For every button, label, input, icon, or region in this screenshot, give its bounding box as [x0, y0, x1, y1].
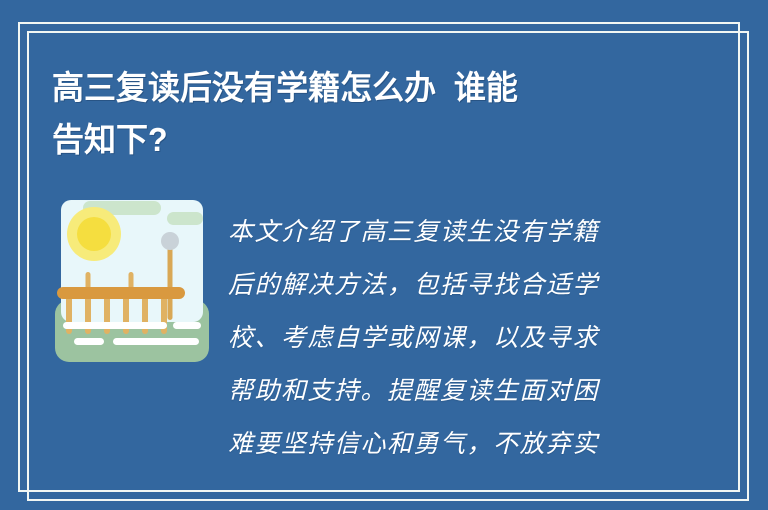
title-line-2: 告知下?: [52, 114, 673, 166]
title-line-1: 高三复读后没有学籍怎么办 谁能: [52, 62, 673, 114]
lamp-head-icon: [161, 232, 179, 250]
article-summary: 本文介绍了高三复读生没有学籍 后的解决方法，包括寻找合适学 校、考虑自学或网课，…: [228, 205, 653, 470]
wave-line: [63, 322, 167, 329]
lamp-pole: [168, 244, 173, 320]
summary-line: 帮助和支持。提醒复读生面对困: [228, 364, 653, 417]
pier-plank: [57, 287, 185, 299]
summary-line: 校、考虑自学或网课，以及寻求: [228, 311, 653, 364]
page-title: 高三复读后没有学籍怎么办 谁能 告知下?: [52, 62, 692, 166]
cloud-icon: [167, 212, 203, 225]
wave-line: [74, 338, 104, 345]
summary-line: 本文介绍了高三复读生没有学籍: [228, 205, 653, 258]
sun-core: [77, 217, 111, 251]
wave-line: [113, 338, 199, 345]
seaside-pier-illustration: [47, 196, 217, 368]
summary-line: 难要坚持信心和勇气，不放弃实: [228, 417, 653, 470]
poster-canvas: 高三复读后没有学籍怎么办 谁能 告知下?: [0, 0, 768, 510]
pier-illustration-svg: [47, 196, 217, 368]
wave-line: [173, 322, 201, 329]
summary-line: 后的解决方法，包括寻找合适学: [228, 258, 653, 311]
